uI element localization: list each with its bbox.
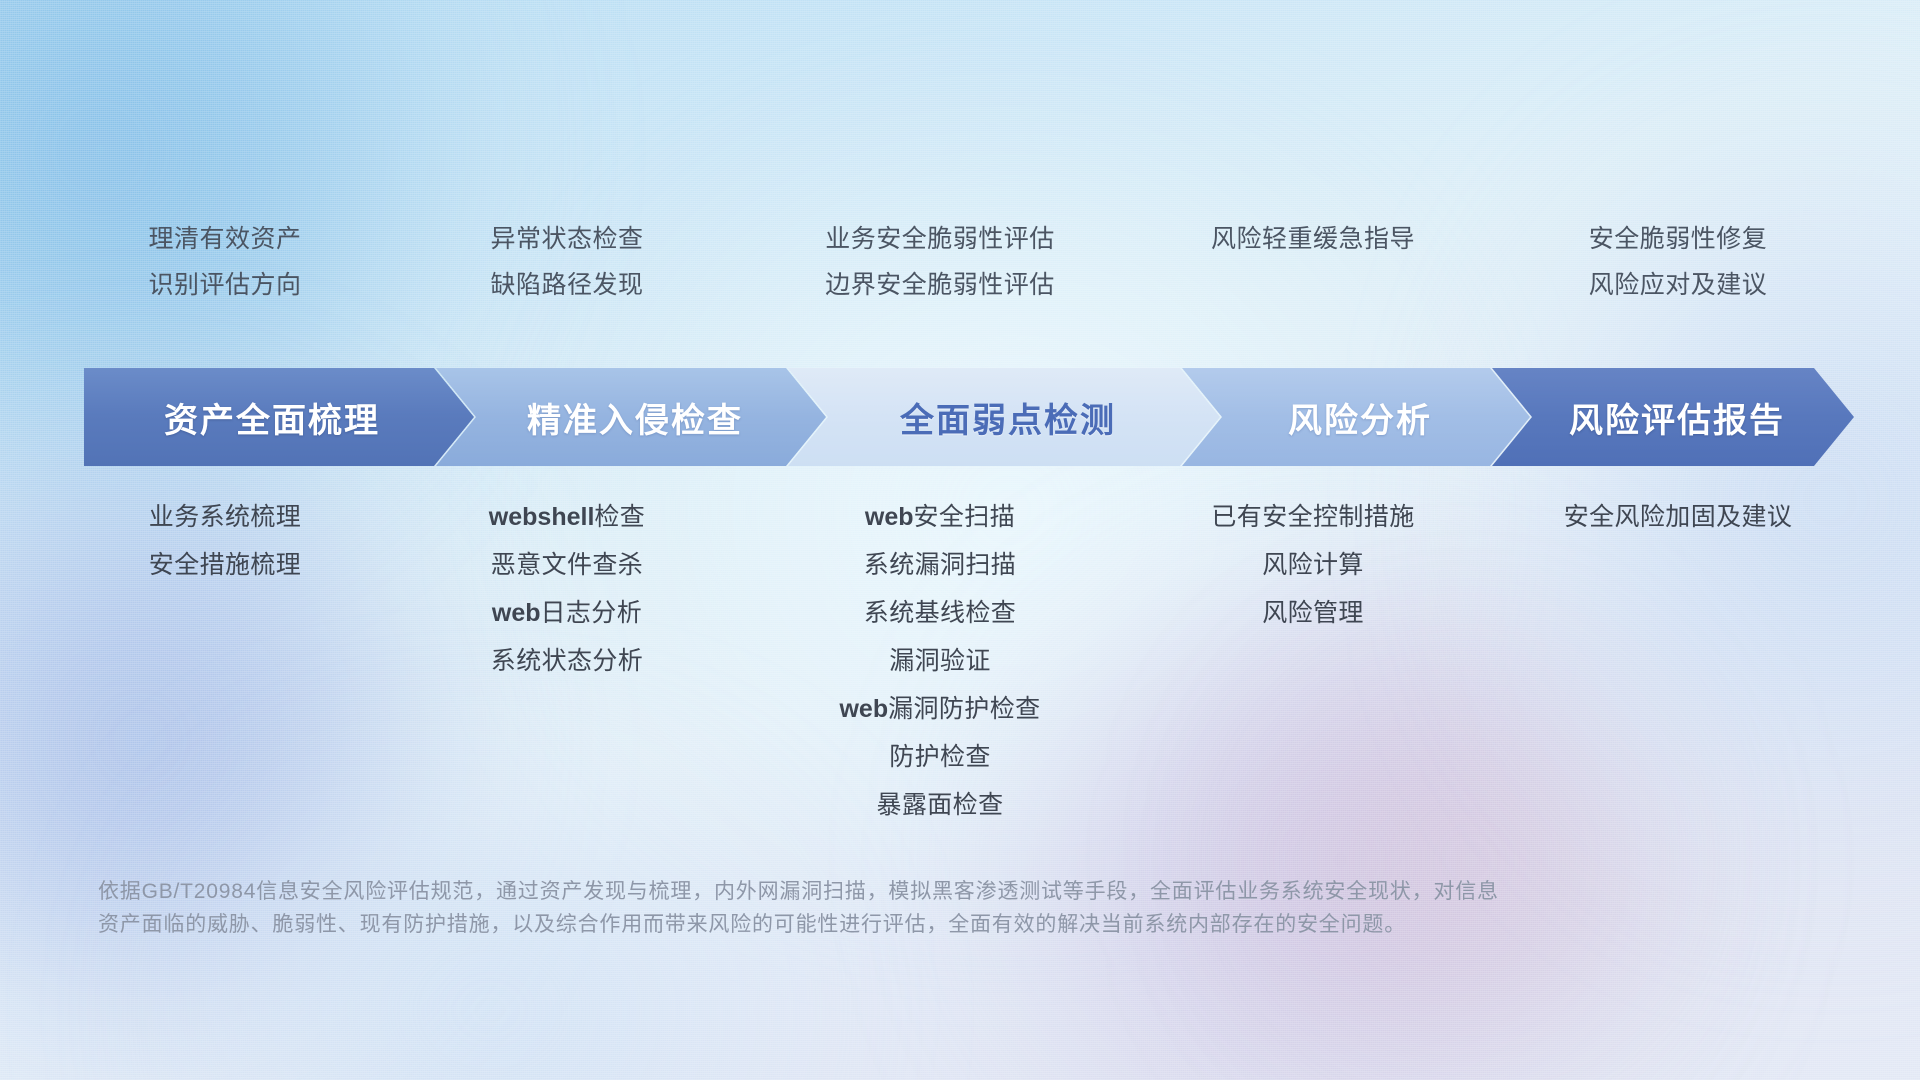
stage-item: 风险计算 [1262, 548, 1364, 583]
top-note: 异常状态检查 [490, 222, 643, 256]
footer-line-1: 依据GB/T20984信息安全风险评估规范，通过资产发现与梳理，内外网漏洞扫描，… [98, 875, 1618, 908]
process-flow-diagram: 理清有效资产识别评估方向异常状态检查缺陷路径发现业务安全脆弱性评估边界安全脆弱性… [0, 0, 1920, 1080]
top-notes-stack: 理清有效资产识别评估方向 [148, 222, 301, 302]
stage-items-column-asset-inventory: 业务系统梳理安全措施梳理 [149, 500, 301, 583]
stage-item-latin: webshell [489, 503, 595, 531]
stage-item: 系统基线检查 [864, 596, 1016, 631]
top-note: 风险轻重缓急指导 [1211, 222, 1415, 256]
stage-item: web日志分析 [492, 596, 642, 631]
stage-item-latin: web [865, 503, 914, 531]
top-note: 缺陷路径发现 [490, 268, 643, 302]
stage-item: 系统漏洞扫描 [864, 548, 1016, 583]
stage-arrow-weakness-detection[interactable]: 全面弱点检测 [788, 368, 1220, 466]
top-note: 业务安全脆弱性评估 [825, 222, 1055, 256]
stage-item: 漏洞验证 [889, 644, 991, 679]
top-note: 风险应对及建议 [1589, 268, 1768, 302]
stage-item-latin: web [492, 599, 541, 627]
top-note: 理清有效资产 [148, 222, 301, 256]
stage-arrow-risk-analysis[interactable]: 风险分析 [1182, 368, 1530, 466]
stage-item: web漏洞防护检查 [839, 692, 1040, 727]
stage-items-column-weakness-detection: web安全扫描系统漏洞扫描系统基线检查漏洞验证web漏洞防护检查防护检查暴露面检… [839, 500, 1040, 823]
stage-items-column-intrusion-check: webshell检查恶意文件查杀web日志分析系统状态分析 [489, 500, 645, 679]
stage-arrow-label: 全面弱点检测 [788, 393, 1220, 442]
top-notes-stack: 安全脆弱性修复风险应对及建议 [1589, 222, 1768, 302]
top-note: 安全脆弱性修复 [1589, 222, 1768, 256]
stage-arrow-label: 精准入侵检查 [436, 393, 826, 442]
stage-item: 暴露面检查 [876, 788, 1003, 823]
stage-arrow-banner: 资产全面梳理精准入侵检查全面弱点检测风险分析风险评估报告 [84, 368, 1854, 466]
stage-item: web安全扫描 [865, 500, 1015, 535]
top-note: 识别评估方向 [148, 268, 301, 302]
stage-arrow-intrusion-check[interactable]: 精准入侵检查 [436, 368, 826, 466]
top-notes-stack: 风险轻重缓急指导 [1211, 222, 1415, 256]
footer-line-2: 资产面临的威胁、脆弱性、现有防护措施，以及综合作用而带来风险的可能性进行评估，全… [98, 908, 1618, 941]
stage-items-column-risk-analysis: 已有安全控制措施风险计算风险管理 [1211, 500, 1414, 631]
stage-item-latin: web [839, 695, 888, 723]
stage-item: 业务系统梳理 [149, 500, 301, 535]
stage-arrow-risk-report[interactable]: 风险评估报告 [1492, 368, 1854, 466]
top-note: 边界安全脆弱性评估 [825, 268, 1055, 302]
stage-item: 防护检查 [889, 740, 991, 775]
top-notes-stack: 业务安全脆弱性评估边界安全脆弱性评估 [825, 222, 1055, 302]
top-notes-stack: 异常状态检查缺陷路径发现 [490, 222, 643, 302]
stage-item: 风险管理 [1262, 596, 1364, 631]
stage-item: 安全措施梳理 [149, 548, 301, 583]
stage-arrow-asset-inventory[interactable]: 资产全面梳理 [84, 368, 474, 466]
stage-items-row: 业务系统梳理安全措施梳理webshell检查恶意文件查杀web日志分析系统状态分… [0, 500, 1920, 840]
stage-items-column-risk-report: 安全风险加固及建议 [1564, 500, 1793, 535]
stage-item: 安全风险加固及建议 [1564, 500, 1793, 535]
stage-item: webshell检查 [489, 500, 645, 535]
stage-item: 已有安全控制措施 [1211, 500, 1414, 535]
top-notes-row: 理清有效资产识别评估方向异常状态检查缺陷路径发现业务安全脆弱性评估边界安全脆弱性… [0, 222, 1920, 342]
stage-item: 系统状态分析 [491, 644, 643, 679]
stage-item: 恶意文件查杀 [491, 548, 643, 583]
stage-arrow-label: 风险分析 [1182, 393, 1530, 442]
stage-arrow-label: 资产全面梳理 [84, 393, 474, 442]
footer-description: 依据GB/T20984信息安全风险评估规范，通过资产发现与梳理，内外网漏洞扫描，… [98, 875, 1618, 941]
stage-arrow-label: 风险评估报告 [1492, 393, 1854, 442]
